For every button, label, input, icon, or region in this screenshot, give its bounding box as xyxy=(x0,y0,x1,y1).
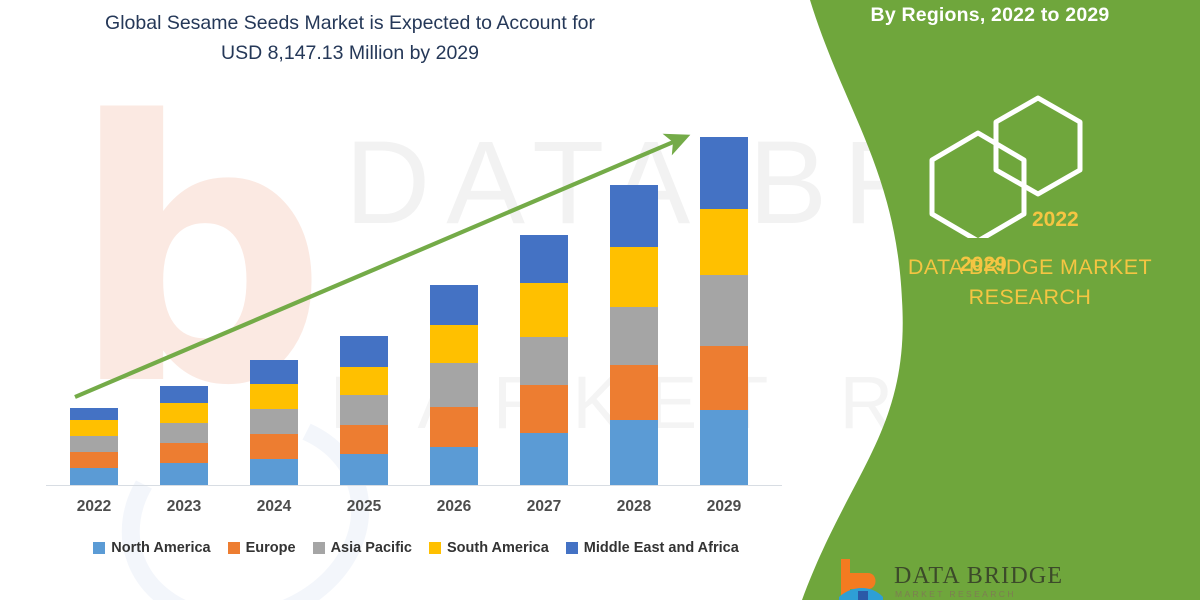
bar-segment-middle-east-and-africa xyxy=(430,285,478,325)
bar-segment-south-america xyxy=(430,325,478,363)
stacked-bar-2022 xyxy=(70,408,118,485)
bar-segment-europe xyxy=(520,385,568,433)
bar-segment-middle-east-and-africa xyxy=(70,408,118,420)
legend-item-europe[interactable]: Europe xyxy=(228,540,296,556)
bar-segment-north-america xyxy=(250,459,298,485)
x-tick-2023: 2023 xyxy=(139,498,229,516)
legend-swatch-icon xyxy=(429,542,441,554)
bar-segment-asia-pacific xyxy=(250,409,298,434)
x-tick-2026: 2026 xyxy=(409,498,499,516)
stacked-bar-2028 xyxy=(610,185,658,485)
bar-segment-asia-pacific xyxy=(610,307,658,365)
bar-segment-europe xyxy=(250,434,298,459)
legend-item-middle-east-and-africa[interactable]: Middle East and Africa xyxy=(566,540,739,556)
legend-item-asia-pacific[interactable]: Asia Pacific xyxy=(313,540,412,556)
bar-segment-europe xyxy=(610,365,658,420)
data-bridge-logo-icon xyxy=(838,557,884,600)
bar-segment-asia-pacific xyxy=(70,436,118,452)
bar-segment-south-america xyxy=(70,420,118,436)
legend-item-south-america[interactable]: South America xyxy=(429,540,549,556)
bar-segment-asia-pacific xyxy=(340,395,388,425)
bar-segment-asia-pacific xyxy=(430,363,478,407)
bar-segment-middle-east-and-africa xyxy=(160,386,208,403)
legend-label: South America xyxy=(447,540,549,556)
bar-segment-middle-east-and-africa xyxy=(520,235,568,283)
legend-swatch-icon xyxy=(566,542,578,554)
bar-segment-middle-east-and-africa xyxy=(340,336,388,367)
hexagon-2022-label: 2022 xyxy=(1032,208,1079,232)
hexagon-2029-shape xyxy=(932,133,1024,238)
x-tick-2024: 2024 xyxy=(229,498,319,516)
brand-name-line1: DATA BRIDGE MARKET xyxy=(860,252,1200,282)
x-tick-2022: 2022 xyxy=(49,498,139,516)
stacked-bar-2029 xyxy=(700,137,748,485)
bar-segment-europe xyxy=(70,452,118,468)
bar-segment-europe xyxy=(160,443,208,463)
x-tick-2028: 2028 xyxy=(589,498,679,516)
bar-segment-north-america xyxy=(520,433,568,485)
bar-segment-north-america xyxy=(70,468,118,485)
legend-item-north-america[interactable]: North America xyxy=(93,540,210,556)
chart-plot-area: 20222023202420252026202720282029 xyxy=(0,0,800,600)
bar-segment-south-america xyxy=(340,367,388,395)
bar-segment-europe xyxy=(340,425,388,454)
x-tick-2029: 2029 xyxy=(679,498,769,516)
x-axis-line xyxy=(46,485,782,486)
bar-segment-north-america xyxy=(340,454,388,485)
legend-swatch-icon xyxy=(313,542,325,554)
bar-segment-asia-pacific xyxy=(520,337,568,385)
stacked-bar-2025 xyxy=(340,336,388,485)
hexagon-2022-shape xyxy=(996,98,1080,194)
chart-legend: North AmericaEuropeAsia PacificSouth Ame… xyxy=(46,540,786,556)
data-bridge-logo-subtext: MARKET RESEARCH xyxy=(895,589,1016,599)
bar-segment-middle-east-and-africa xyxy=(700,137,748,209)
infographic-canvas: b DATA BRIDGE MARKET RESEARCH By Regions… xyxy=(0,0,1200,600)
bar-segment-north-america xyxy=(160,463,208,485)
bar-segment-north-america xyxy=(610,420,658,485)
hexagon-logo-group: 2022 2029 xyxy=(920,88,1120,223)
panel-heading: By Regions, 2022 to 2029 xyxy=(780,0,1200,27)
bar-segment-middle-east-and-africa xyxy=(610,185,658,247)
bar-segment-north-america xyxy=(700,410,748,485)
bar-segment-europe xyxy=(700,346,748,410)
bar-segment-middle-east-and-africa xyxy=(250,360,298,384)
legend-swatch-icon xyxy=(228,542,240,554)
stacked-bar-2027 xyxy=(520,235,568,485)
panel-heading-text: By Regions, 2022 to 2029 xyxy=(871,4,1110,26)
legend-label: Middle East and Africa xyxy=(584,540,739,556)
stacked-bar-2026 xyxy=(430,285,478,485)
bar-segment-asia-pacific xyxy=(700,275,748,346)
bar-segment-asia-pacific xyxy=(160,423,208,443)
bar-segment-europe xyxy=(430,407,478,447)
legend-label: Asia Pacific xyxy=(331,540,412,556)
stacked-bar-2024 xyxy=(250,360,298,485)
legend-label: North America xyxy=(111,540,210,556)
bar-segment-south-america xyxy=(610,247,658,307)
x-tick-2027: 2027 xyxy=(499,498,589,516)
x-tick-2025: 2025 xyxy=(319,498,409,516)
bar-segment-south-america xyxy=(250,384,298,409)
legend-label: Europe xyxy=(246,540,296,556)
stacked-bar-2023 xyxy=(160,386,208,485)
bar-segment-south-america xyxy=(160,403,208,423)
bar-segment-south-america xyxy=(520,283,568,337)
bar-segment-south-america xyxy=(700,209,748,275)
brand-name: DATA BRIDGE MARKET RESEARCH xyxy=(860,252,1200,312)
data-bridge-logo: DATA BRIDGE MARKET RESEARCH xyxy=(838,555,1098,600)
bar-segment-north-america xyxy=(430,447,478,485)
brand-name-line2: RESEARCH xyxy=(860,282,1200,312)
legend-swatch-icon xyxy=(93,542,105,554)
data-bridge-logo-text: DATA BRIDGE xyxy=(894,563,1063,590)
